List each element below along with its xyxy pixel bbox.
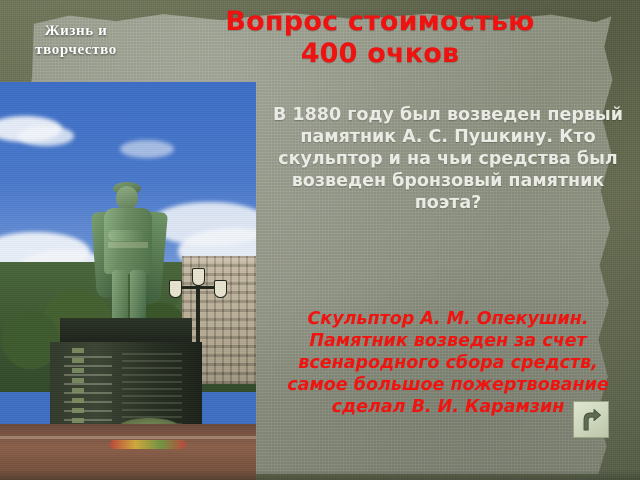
plaza-ground [0,424,256,480]
question-text: В 1880 году был возведен первый памятник… [272,104,624,214]
lamp-globe [169,280,182,298]
lamp-globe [192,268,205,286]
answer-text: Скульптор А. М. Опекушин. Памятник возве… [272,308,624,418]
quiz-slide: Жизнь и творчество Вопрос стоимостью 400… [0,0,640,480]
flowers [110,440,186,449]
statue-arm [108,230,144,241]
cloud-shape [18,126,74,146]
category-label: Жизнь и творчество [6,22,146,60]
statue-leg-left [112,270,128,322]
monument-photo [0,82,256,480]
lamp-globe [214,280,227,298]
statue-body [104,208,152,274]
title-line-1: Вопрос стоимостью [150,6,610,38]
statue-head [116,186,138,210]
pedestal-top [60,318,192,344]
title-line-2: 400 очков [150,38,610,70]
statue-sash [108,242,148,248]
cloud-shape [120,140,174,158]
return-arrow-icon [580,408,602,432]
page-title: Вопрос стоимостью 400 очков [150,6,610,70]
pushkin-statue [86,186,170,322]
statue-leg-right [130,270,146,322]
return-button[interactable] [573,401,609,438]
